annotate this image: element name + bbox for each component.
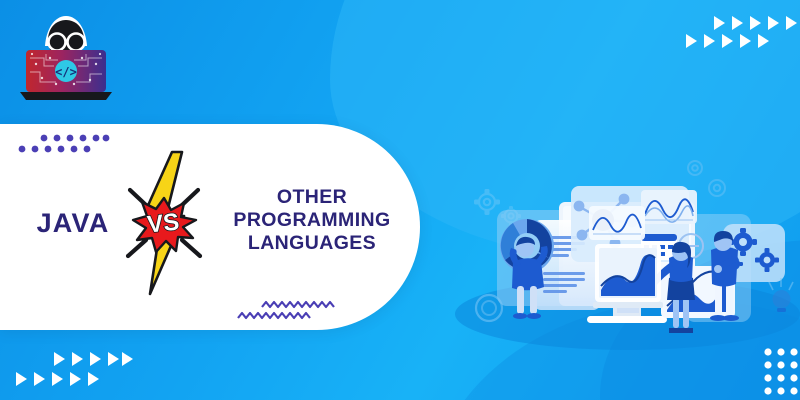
white-triangle-arrows-bottom-left bbox=[14, 350, 134, 392]
man-pointing-at-gears bbox=[710, 231, 739, 321]
geeksforgeeks-ninja-laptop-logo[interactable]: </> bbox=[12, 8, 120, 106]
versus-badge: VS bbox=[116, 148, 212, 298]
title-line-1: OTHER bbox=[214, 186, 410, 209]
other-languages-title: OTHER PROGRAMMING LANGUAGES bbox=[214, 186, 410, 255]
versus-label: VS bbox=[146, 208, 181, 238]
illustration-people-right bbox=[455, 150, 800, 350]
purple-dot-grid bbox=[18, 133, 110, 159]
white-dot-grid-bottom-right bbox=[762, 346, 800, 396]
title-line-3: LANGUAGES bbox=[214, 232, 410, 255]
java-title: JAVA bbox=[18, 208, 128, 239]
code-glyph: </> bbox=[55, 65, 77, 79]
white-triangle-arrows-top-right bbox=[686, 12, 798, 54]
small-line-chart-card bbox=[589, 206, 645, 240]
laptop-circuit-board-icon: </> bbox=[20, 50, 112, 100]
banner-image: </> JAVA bbox=[0, 0, 800, 400]
title-line-2: PROGRAMMING bbox=[214, 209, 410, 232]
purple-zigzag-waves bbox=[236, 300, 342, 324]
chart-screen-left-of-woman bbox=[593, 244, 663, 313]
